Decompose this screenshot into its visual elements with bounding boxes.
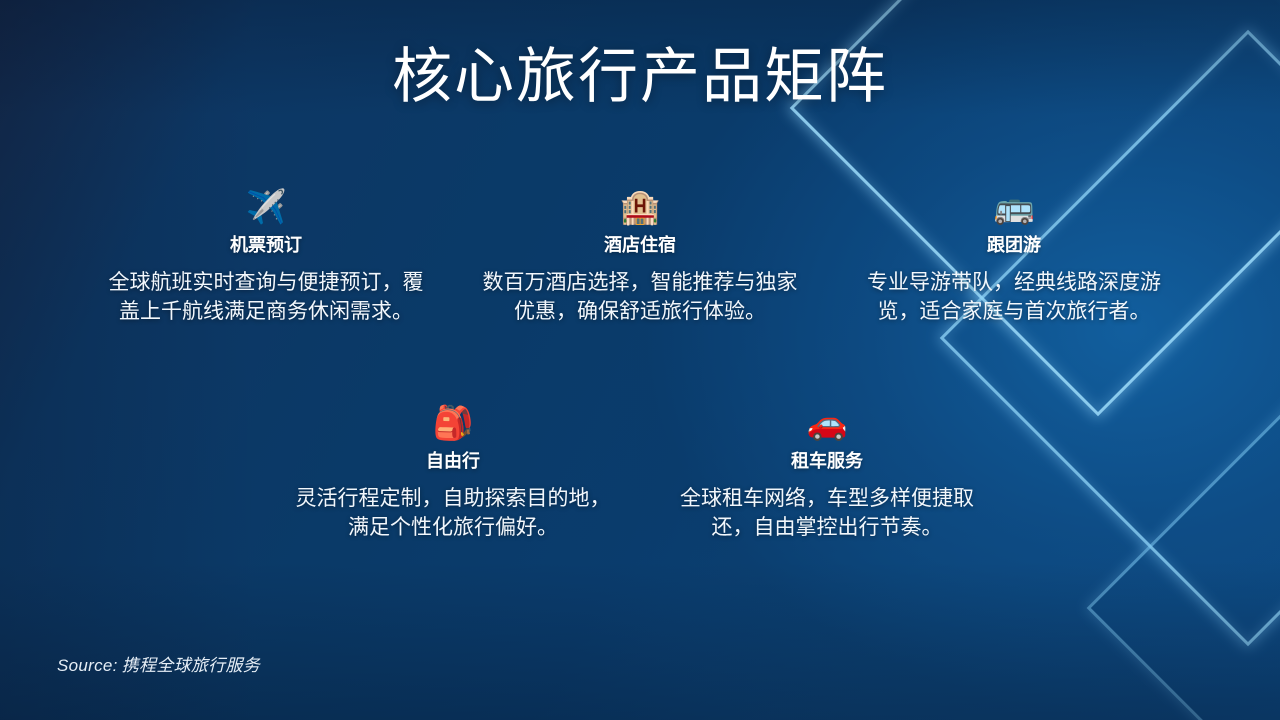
source-value: 携程全球旅行服务	[122, 656, 260, 675]
product-card-description: 灵活行程定制，自助探索目的地，满足个性化旅行偏好。	[290, 484, 616, 542]
product-card-car-rental: 🚗 租车服务 全球租车网络，车型多样便捷取还，自由掌控出行节奏。	[652, 402, 1002, 542]
product-card-group-tour: 🚌 跟团游 专业导游带队，经典线路深度游览，适合家庭与首次旅行者。	[839, 186, 1189, 326]
hotel-icon: 🏨	[477, 186, 803, 228]
airplane-icon: ✈️	[103, 186, 429, 228]
product-card-description: 数百万酒店选择，智能推荐与独家优惠，确保舒适旅行体验。	[477, 268, 803, 326]
slide-root: 核心旅行产品矩阵 ✈️ 机票预订 全球航班实时查询与便捷预订，覆盖上千航线满足商…	[0, 0, 1280, 720]
product-card-description: 全球航班实时查询与便捷预订，覆盖上千航线满足商务休闲需求。	[103, 268, 429, 326]
product-card-flight: ✈️ 机票预订 全球航班实时查询与便捷预订，覆盖上千航线满足商务休闲需求。	[91, 186, 441, 326]
product-card-description: 全球租车网络，车型多样便捷取还，自由掌控出行节奏。	[664, 484, 990, 542]
card-row-bottom: 🎒 自由行 灵活行程定制，自助探索目的地，满足个性化旅行偏好。 🚗 租车服务 全…	[0, 402, 1280, 542]
car-icon: 🚗	[664, 402, 990, 444]
product-card-title: 租车服务	[664, 448, 990, 474]
product-card-title: 跟团游	[851, 232, 1177, 258]
backpack-icon: 🎒	[290, 402, 616, 444]
product-card-title: 自由行	[290, 448, 616, 474]
source-note: Source:携程全球旅行服务	[57, 651, 260, 676]
product-card-title: 酒店住宿	[477, 232, 803, 258]
page-title: 核心旅行产品矩阵	[0, 42, 1280, 111]
card-row-top: ✈️ 机票预订 全球航班实时查询与便捷预订，覆盖上千航线满足商务休闲需求。 🏨 …	[0, 186, 1280, 326]
source-label: Source:	[57, 656, 118, 675]
bus-icon: 🚌	[851, 186, 1177, 228]
product-card-title: 机票预订	[103, 232, 429, 258]
product-card-description: 专业导游带队，经典线路深度游览，适合家庭与首次旅行者。	[851, 268, 1177, 326]
product-card-free-travel: 🎒 自由行 灵活行程定制，自助探索目的地，满足个性化旅行偏好。	[278, 402, 628, 542]
product-card-hotel: 🏨 酒店住宿 数百万酒店选择，智能推荐与独家优惠，确保舒适旅行体验。	[465, 186, 815, 326]
